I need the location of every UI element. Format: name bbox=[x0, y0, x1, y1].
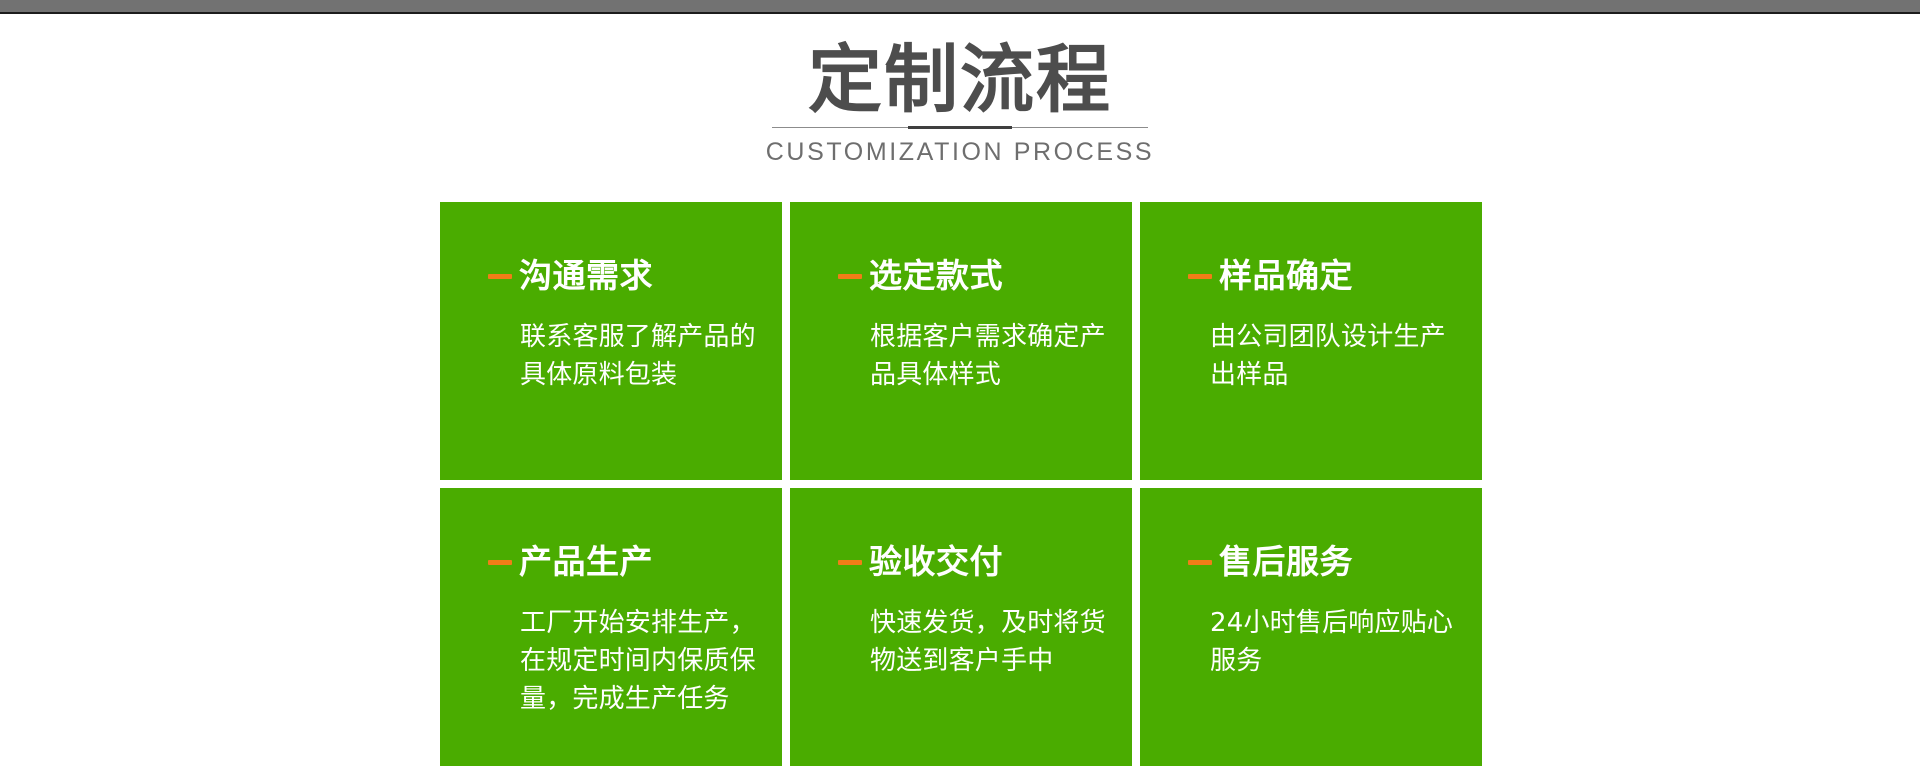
step-body-2: 根据客户需求确定产品具体样式 bbox=[870, 318, 1106, 394]
step-title-text-1: 沟通需求 bbox=[519, 258, 653, 294]
process-steps-grid: 沟通需求 联系客服了解产品的具体原料包装 选定款式 根据客户需求确定产品具体样式… bbox=[440, 202, 1482, 766]
step-title-text-4: 产品生产 bbox=[519, 544, 653, 580]
process-step-card-2: 选定款式 根据客户需求确定产品具体样式 bbox=[790, 202, 1132, 480]
step-title-1: 沟通需求 bbox=[488, 258, 653, 294]
customization-process-page: 定制流程 CUSTOMIZATION PROCESS 沟通需求 联系客服了解产品… bbox=[0, 0, 1920, 779]
step-title-text-6: 售后服务 bbox=[1219, 544, 1353, 580]
step-title-text-5: 验收交付 bbox=[869, 544, 1003, 580]
step-title-6: 售后服务 bbox=[1188, 544, 1353, 580]
title-divider bbox=[772, 126, 1148, 130]
process-step-card-6: 售后服务 24小时售后响应贴心服务 bbox=[1140, 488, 1482, 766]
step-title-text-3: 样品确定 bbox=[1219, 258, 1353, 294]
step-body-4: 工厂开始安排生产，在规定时间内保质保量，完成生产任务 bbox=[520, 604, 756, 718]
dash-marker-icon bbox=[1188, 560, 1212, 565]
page-header: 定制流程 CUSTOMIZATION PROCESS bbox=[0, 38, 1920, 167]
dash-marker-icon bbox=[1188, 274, 1212, 279]
step-title-2: 选定款式 bbox=[838, 258, 1003, 294]
step-body-1: 联系客服了解产品的具体原料包装 bbox=[520, 318, 756, 394]
step-body-5: 快速发货，及时将货物送到客户手中 bbox=[870, 604, 1106, 680]
step-title-5: 验收交付 bbox=[838, 544, 1003, 580]
dash-marker-icon bbox=[488, 560, 512, 565]
step-body-3: 由公司团队设计生产出样品 bbox=[1210, 318, 1460, 394]
step-title-text-2: 选定款式 bbox=[869, 258, 1003, 294]
process-step-card-4: 产品生产 工厂开始安排生产，在规定时间内保质保量，完成生产任务 bbox=[440, 488, 782, 766]
process-step-card-3: 样品确定 由公司团队设计生产出样品 bbox=[1140, 202, 1482, 480]
dash-marker-icon bbox=[488, 274, 512, 279]
divider-thick-accent bbox=[908, 126, 1012, 129]
step-title-4: 产品生产 bbox=[488, 544, 653, 580]
dash-marker-icon bbox=[838, 560, 862, 565]
process-step-card-1: 沟通需求 联系客服了解产品的具体原料包装 bbox=[440, 202, 782, 480]
top-gray-strip bbox=[0, 0, 1920, 14]
step-title-3: 样品确定 bbox=[1188, 258, 1353, 294]
step-body-6: 24小时售后响应贴心服务 bbox=[1210, 604, 1460, 680]
dash-marker-icon bbox=[838, 274, 862, 279]
page-subtitle: CUSTOMIZATION PROCESS bbox=[0, 137, 1920, 167]
process-step-card-5: 验收交付 快速发货，及时将货物送到客户手中 bbox=[790, 488, 1132, 766]
page-title: 定制流程 bbox=[0, 38, 1920, 122]
